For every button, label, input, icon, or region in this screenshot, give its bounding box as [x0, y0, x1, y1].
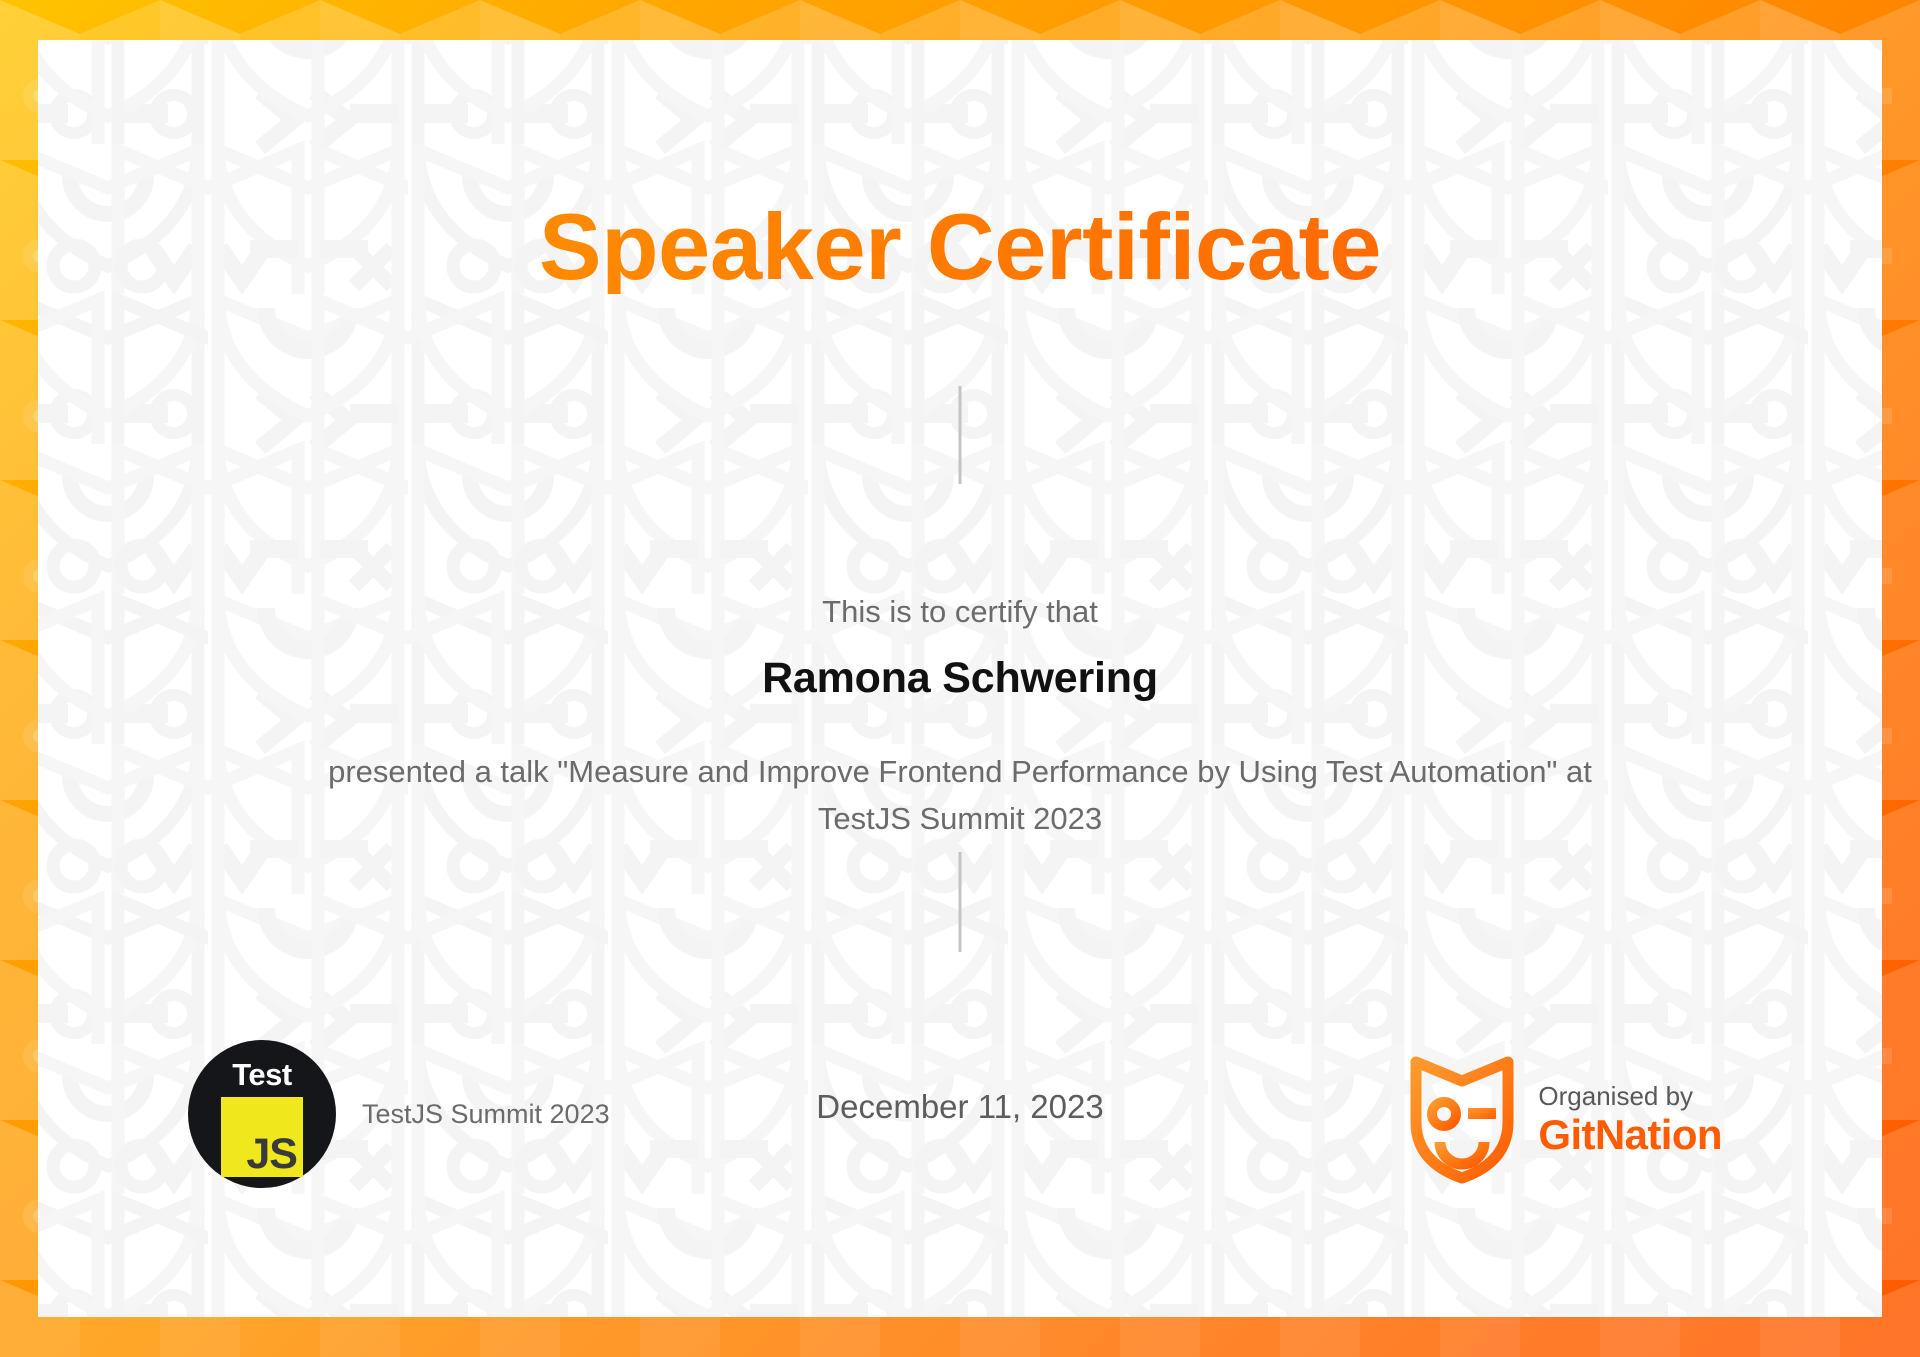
organiser-text: Organised by GitNation — [1538, 1082, 1722, 1158]
organiser-name: GitNation — [1538, 1111, 1722, 1158]
gitnation-shield-face-icon — [1408, 1054, 1516, 1186]
certify-line: This is to certify that — [38, 594, 1882, 630]
talk-description: presented a talk "Measure and Improve Fr… — [278, 748, 1642, 842]
page-title: Speaker Certificate — [38, 200, 1882, 294]
organiser-block: Organised by GitNation — [1408, 1054, 1722, 1186]
certificate-footer: Test JS TestJS Summit 2023 December 11, … — [38, 1040, 1882, 1230]
testjs-logo-js-word: JS — [246, 1133, 297, 1176]
organiser-prefix: Organised by — [1538, 1082, 1722, 1111]
certificate-sheet: Speaker Certificate This is to certify t… — [38, 40, 1882, 1317]
certificate: Speaker Certificate This is to certify t… — [0, 0, 1920, 1357]
divider-bottom — [959, 852, 962, 952]
recipient-name: Ramona Schwering — [38, 654, 1882, 703]
divider-top — [959, 386, 962, 484]
